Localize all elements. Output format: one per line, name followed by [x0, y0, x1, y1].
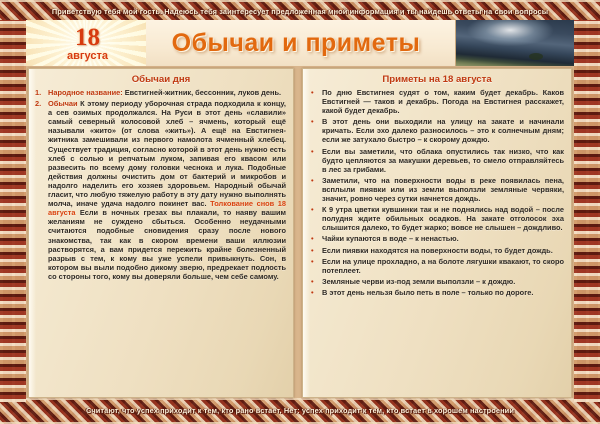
item-text: В этот день они выходили на улицу на зак… — [322, 117, 564, 144]
bullet-icon: • — [311, 88, 314, 97]
item-text: Земляные черви из-под земли выползли – к… — [322, 277, 515, 286]
omens-panel: Приметы на 18 августа •По дню Евстигнея … — [302, 68, 572, 398]
customs-list: 1.Народное название: Евстигней-житник, б… — [35, 88, 286, 281]
date-day: 18 — [75, 25, 100, 50]
bullet-icon: • — [311, 234, 314, 243]
stormy-sky-photo — [455, 20, 574, 66]
item-label: Обычаи — [48, 99, 78, 108]
left-ornament-border — [0, 20, 26, 402]
list-item: •По дню Евстигнея судят о том, каким буд… — [309, 88, 564, 115]
list-item: 1.Народное название: Евстигней-житник, б… — [35, 88, 286, 97]
list-marker: 2. — [35, 99, 41, 108]
item-text: В этот день нельзя было петь в поле – то… — [322, 288, 533, 297]
list-item: •Если вы заметили, что облака опустились… — [309, 147, 564, 174]
list-marker: 1. — [35, 88, 41, 97]
omens-panel-title: Приметы на 18 августа — [303, 69, 571, 88]
item-text: Если вы заметили, что облака опустились … — [322, 147, 564, 174]
list-item: 2.Обычаи К этому периоду уборочная страд… — [35, 99, 286, 281]
header-bar: 18 августа Обычаи и приметы — [26, 20, 574, 66]
bullet-icon: • — [311, 176, 314, 185]
bullet-icon: • — [311, 205, 314, 214]
page-title: Обычаи и приметы — [146, 20, 446, 66]
list-item: •Чайки купаются в воде – к ненастью. — [309, 234, 564, 243]
bullet-icon: • — [311, 147, 314, 156]
item-text: Чайки купаются в воде – к ненастью. — [322, 234, 459, 243]
quote-ribbon-text: Считают, что успех приходит к тем, кто р… — [0, 406, 600, 415]
customs-panel-body: 1.Народное название: Евстигней-житник, б… — [29, 88, 293, 287]
list-item: •В этот день нельзя было петь в поле – т… — [309, 288, 564, 297]
date-badge: 18 августа — [30, 20, 145, 66]
right-ornament-border — [574, 20, 600, 402]
item-text: По дню Евстигнея судят о том, каким буде… — [322, 88, 564, 115]
item-text: Если пиявки находятся на поверхности вод… — [322, 246, 553, 255]
list-item: •К 9 утра цветки кувшинки так и не подня… — [309, 205, 564, 232]
customs-panel-title: Обычаи дня — [29, 69, 293, 88]
list-item: •Заметили, что на поверхности воды в рек… — [309, 176, 564, 203]
item-label: Народное название: — [48, 88, 123, 97]
customs-panel: Обычаи дня 1.Народное название: Евстигне… — [28, 68, 294, 398]
omens-list: •По дню Евстигнея судят о том, каким буд… — [309, 88, 564, 297]
item-text: Если на улице прохладно, а на болоте ляг… — [322, 257, 564, 275]
list-item: •Земляные черви из-под земли выползли – … — [309, 277, 564, 286]
date-month: августа — [67, 51, 108, 62]
bullet-icon: • — [311, 257, 314, 266]
bullet-icon: • — [311, 288, 314, 297]
calendar-page: Приветствую тебя мой гость. Надеюсь тебя… — [0, 0, 600, 424]
item-text: Заметили, что на поверхности воды в реке… — [322, 176, 564, 203]
item-text: К этому периоду уборочная страда подходи… — [48, 99, 286, 208]
item-text-continued: Если в ночных грезах вы плакали, то наяв… — [48, 208, 286, 281]
greeting-ribbon-text: Приветствую тебя мой гость. Надеюсь тебя… — [0, 7, 600, 16]
list-item: •Если пиявки находятся на поверхности во… — [309, 246, 564, 255]
bullet-icon: • — [311, 277, 314, 286]
item-text: К 9 утра цветки кувшинки так и не поднял… — [322, 205, 564, 232]
bullet-icon: • — [311, 246, 314, 255]
item-text: Евстигней-житник, бессонник, луков день. — [123, 88, 281, 97]
omens-panel-body: •По дню Евстигнея судят о том, каким буд… — [303, 88, 571, 303]
list-item: •В этот день они выходили на улицу на за… — [309, 117, 564, 144]
list-item: •Если на улице прохладно, а на болоте ля… — [309, 257, 564, 275]
bullet-icon: • — [311, 117, 314, 126]
